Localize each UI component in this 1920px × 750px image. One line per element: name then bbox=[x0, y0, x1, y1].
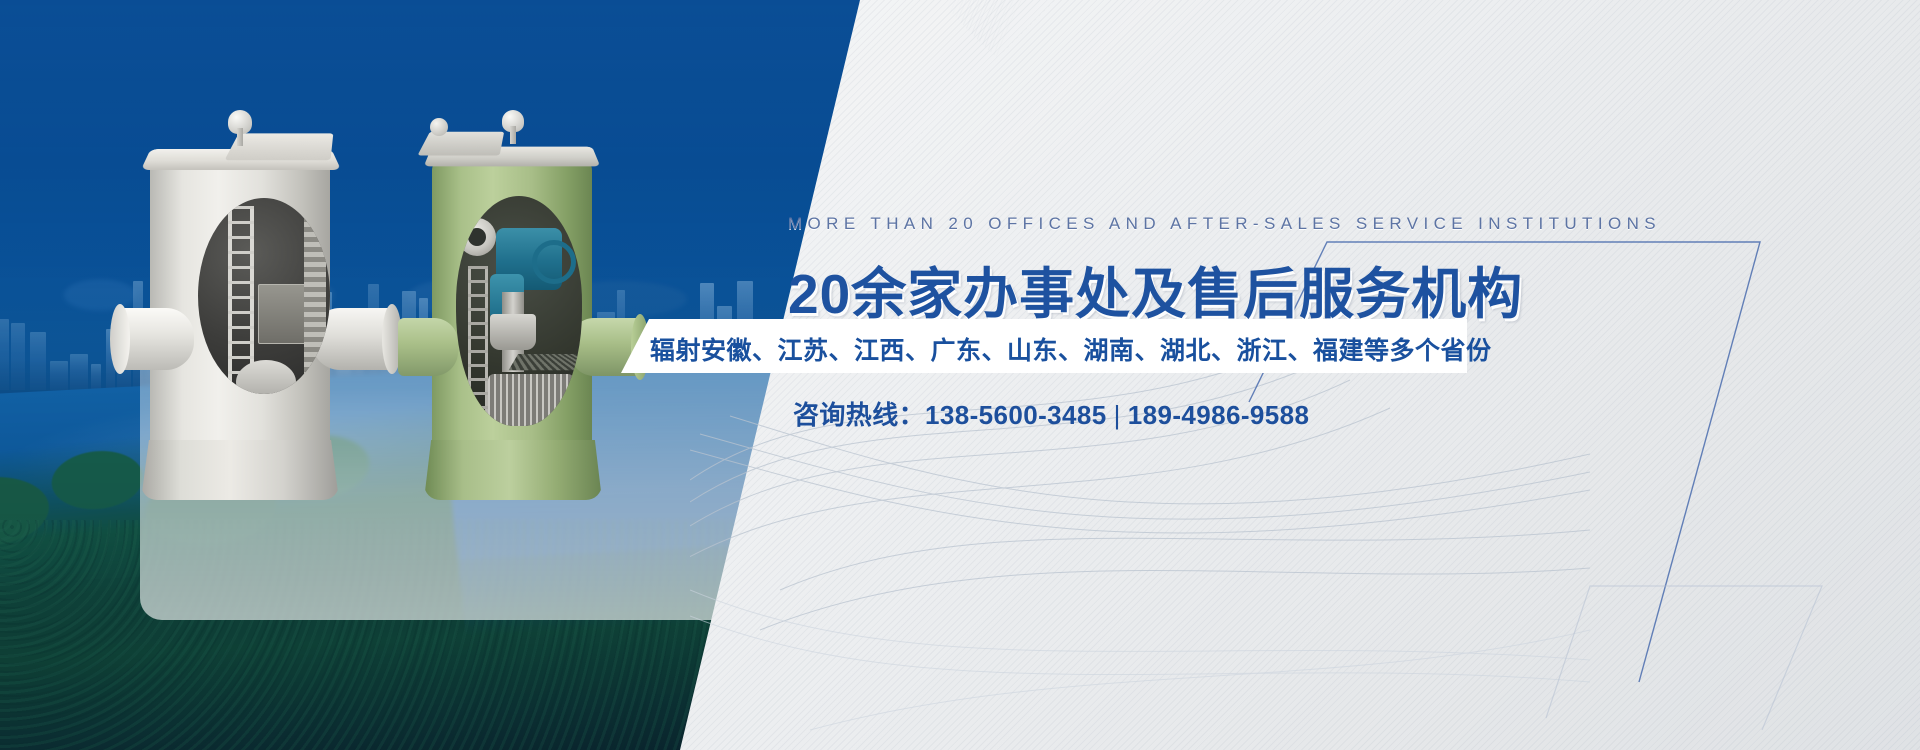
eyebrow-subtitle: MORE THAN 20 OFFICES AND AFTER-SALES SER… bbox=[788, 214, 1661, 234]
green-top-hatch-secondary bbox=[417, 132, 504, 156]
grey-internal-ladder bbox=[228, 206, 254, 386]
grey-internal-drum bbox=[236, 360, 296, 394]
page-title: 20余家办事处及售后服务机构 bbox=[788, 249, 1523, 329]
green-inlet-pipe bbox=[398, 318, 458, 376]
green-vent-cap-secondary-icon bbox=[430, 118, 448, 136]
green-vent-cap-icon bbox=[502, 110, 524, 132]
promo-banner: MORE THAN 20 OFFICES AND AFTER-SALES SER… bbox=[0, 0, 1920, 750]
green-strainer-basket bbox=[488, 374, 574, 426]
hotline-phone-primary[interactable]: 138-5600-3485 bbox=[925, 400, 1107, 430]
green-pump-unit bbox=[490, 314, 536, 350]
green-valve-handwheel-icon bbox=[532, 240, 576, 284]
grey-internal-rail bbox=[304, 212, 326, 382]
grey-inlet-pipe bbox=[118, 308, 194, 370]
green-tank-base bbox=[424, 440, 602, 500]
green-internal-ladder bbox=[468, 266, 488, 416]
green-floor-grating bbox=[509, 354, 582, 370]
grey-cutaway-window bbox=[198, 198, 330, 394]
hotline-separator: | bbox=[1107, 400, 1128, 430]
green-pipe-flange bbox=[458, 218, 496, 256]
green-cutaway-window bbox=[456, 196, 582, 426]
hotline-phone-secondary[interactable]: 189-4986-9588 bbox=[1128, 400, 1310, 430]
hotline-row: 咨询热线：138-5600-3485|189-4986-9588 bbox=[793, 395, 1309, 432]
grey-tank-base bbox=[141, 440, 339, 500]
hotline-label: 咨询热线： bbox=[793, 400, 925, 430]
grey-vent-cap-icon bbox=[228, 110, 252, 134]
coverage-text: 辐射安徽、江苏、江西、广东、山东、湖南、湖北、浙江、福建等多个省份 bbox=[650, 331, 1492, 367]
